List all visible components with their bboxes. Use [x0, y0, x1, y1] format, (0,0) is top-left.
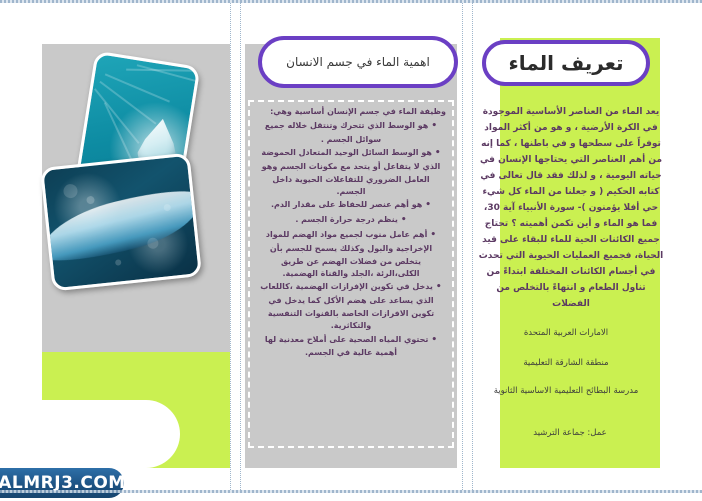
brochure-page: الامارات العربية المتحدة منطقة الشارقة ا… [0, 0, 702, 501]
fold-guide-1 [230, 3, 231, 490]
right-panel-prose: يعد الماء من العناصر الأساسية الموجودة ف… [478, 104, 664, 312]
list-item: هو الوسط السائل الوحيد المتعادل الحموضة … [256, 147, 446, 198]
list-item: أهم عامل منوب لجميع مواد الهضم للمواد ال… [256, 229, 446, 280]
fold-guide-4 [472, 3, 473, 490]
list-item: تحتوي المياه الصحية على أملاح معدنية لها… [256, 334, 446, 360]
middle-panel-body: وظيفة الماء في جسم الإنسان أساسية وهي: ه… [248, 100, 454, 448]
info-line-school: مدرسة البطائح التعليمية الاساسية الثانوي… [472, 386, 660, 396]
water-splash-photo [40, 153, 202, 292]
fold-guide-3 [462, 3, 463, 490]
middle-panel-bullet-list: هو الوسط الذي تتحرك وتنتقل خلاله جميع سو… [256, 120, 446, 360]
list-item: يدخل في تكوين الإفرازات الهضمية ،كاللعاب… [256, 281, 446, 332]
list-item: هو أهم عنصر للحفاظ على مقدار الدم. [256, 199, 446, 213]
middle-panel-title: اهمية الماء في جسم الانسان [258, 36, 458, 88]
info-line-zone: منطقة الشارقة التعليمية [472, 358, 660, 368]
info-line-country: الامارات العربية المتحدة [472, 328, 660, 338]
list-item: ينظم درجة حرارة الجسم . [256, 214, 446, 228]
top-ruler-line [0, 0, 702, 3]
watermark-badge: ALMRJ3.COM [0, 468, 124, 498]
list-item: هو الوسط الذي تتحرك وتنتقل خلاله جميع سو… [256, 120, 446, 146]
left-panel-white-cutout [20, 400, 180, 468]
fold-guide-2 [240, 3, 241, 490]
credit-line: عمل: جماعة الترشيد [480, 428, 660, 438]
bottom-ruler-line [0, 490, 702, 493]
right-panel-title: تعريف الماء [482, 40, 650, 86]
middle-panel-intro: وظيفة الماء في جسم الإنسان أساسية وهي: [256, 106, 446, 118]
